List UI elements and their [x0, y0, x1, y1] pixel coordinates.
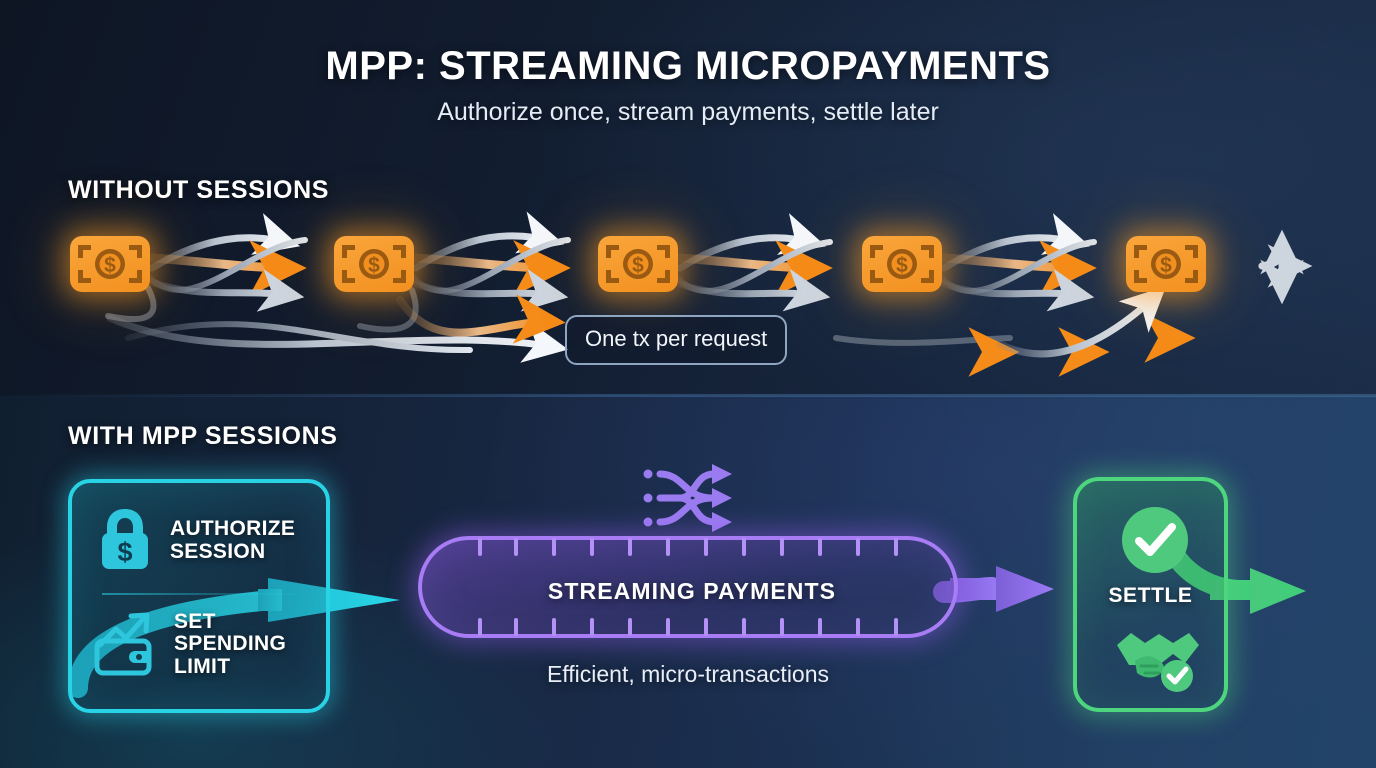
page-title: MPP: STREAMING MICROPAYMENTS	[0, 44, 1376, 89]
handshake-check-icon	[1111, 621, 1201, 698]
svg-text:$: $	[632, 254, 644, 277]
section-divider	[0, 394, 1376, 397]
one-tx-per-request-callout: One tx per request	[565, 315, 787, 365]
streaming-payments-label: STREAMING PAYMENTS	[422, 540, 962, 642]
streaming-caption: Efficient, micro-transactions	[418, 661, 958, 688]
card-divider	[102, 593, 302, 595]
authorize-session-card[interactable]: $ AUTHORIZESESSION SETSPENDINGLIMIT	[68, 479, 330, 713]
svg-text:$: $	[896, 254, 908, 277]
svg-text:$: $	[1160, 254, 1172, 277]
infographic-canvas: MPP: STREAMING MICROPAYMENTS Authorize o…	[0, 0, 1376, 768]
check-circle-icon	[1120, 505, 1190, 580]
lock-dollar-icon: $	[94, 503, 156, 578]
streaming-payments-capsule[interactable]: STREAMING PAYMENTS	[418, 536, 958, 638]
page-subtitle: Authorize once, stream payments, settle …	[0, 98, 1376, 127]
authorize-session-label: AUTHORIZESESSION	[170, 518, 295, 563]
settle-label: SETTLE	[1073, 584, 1228, 608]
section-label-with-sessions: WITH MPP SESSIONS	[68, 422, 338, 451]
set-spending-limit-row: SETSPENDINGLIMIT	[90, 605, 286, 684]
wallet-growth-icon	[90, 605, 160, 684]
svg-text:$: $	[117, 537, 132, 567]
authorize-session-row: $ AUTHORIZESESSION	[94, 503, 295, 578]
section-label-without-sessions: WITHOUT SESSIONS	[68, 176, 329, 205]
shuffle-merge-icon	[640, 462, 744, 539]
svg-text:$: $	[104, 254, 116, 277]
set-spending-limit-label: SETSPENDINGLIMIT	[174, 611, 286, 678]
svg-text:$: $	[368, 254, 380, 277]
